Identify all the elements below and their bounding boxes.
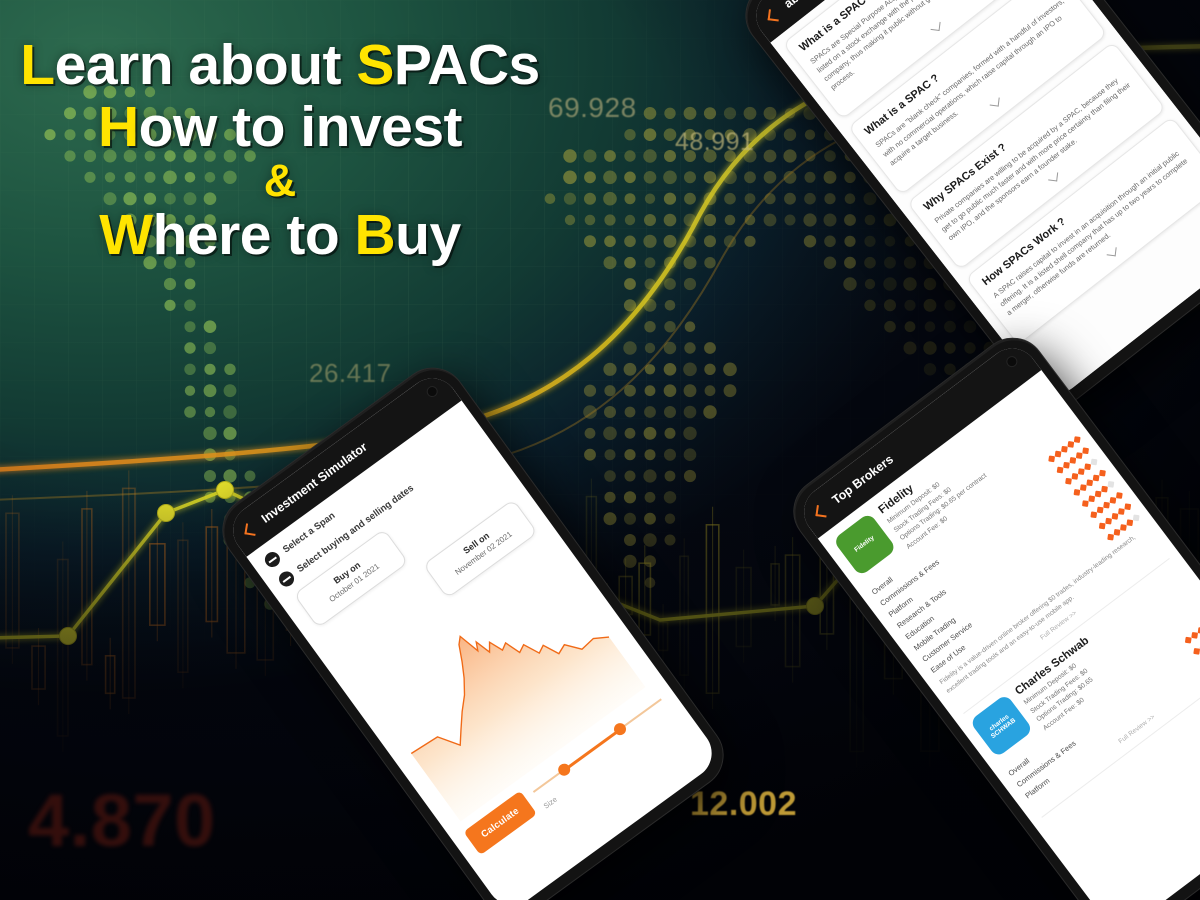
headline-line-4-text-2: uy	[395, 203, 461, 267]
chevron-down-icon[interactable]	[1107, 247, 1117, 257]
star-icon	[1090, 459, 1096, 465]
star-icon	[1098, 523, 1104, 529]
star-icon	[1116, 492, 1122, 498]
star-icon	[1048, 456, 1054, 462]
headline-line-2-text: ow to invest	[139, 95, 462, 159]
headline-line-2-accent: H	[98, 95, 139, 159]
star-icon	[1193, 648, 1199, 654]
headline-line-1-accent: L	[20, 33, 54, 97]
star-icon	[1069, 457, 1075, 463]
star-icon	[1088, 496, 1094, 502]
background-number-5: 12.002	[690, 785, 797, 824]
minus-circle-icon	[262, 549, 283, 570]
star-icon	[1067, 441, 1073, 447]
star-icon	[1061, 446, 1067, 452]
star-icon	[1126, 520, 1132, 526]
star-icon	[1099, 470, 1105, 476]
headline-line-1: Learn about SPACs	[0, 36, 560, 94]
star-icon	[1092, 475, 1098, 481]
star-icon	[1103, 502, 1109, 508]
background-number-2: 48.991	[675, 128, 754, 157]
chevron-down-icon[interactable]	[1048, 172, 1058, 182]
star-icon	[1056, 467, 1062, 473]
star-icon	[1111, 513, 1117, 519]
camera-icon	[1006, 355, 1019, 368]
star-icon	[1113, 529, 1119, 535]
star-icon	[1086, 480, 1092, 486]
star-icon	[1075, 452, 1081, 458]
star-icon	[1096, 507, 1102, 513]
star-icon	[1077, 468, 1083, 474]
star-icon	[1132, 515, 1138, 521]
star-icon	[1063, 462, 1069, 468]
headline-line-1-text: earn about	[55, 33, 357, 97]
background-number-7: 4.870	[28, 778, 216, 863]
back-arrow-icon[interactable]	[764, 6, 782, 24]
star-icon	[1065, 478, 1071, 484]
back-arrow-icon[interactable]	[241, 521, 259, 539]
star-icon	[1107, 534, 1113, 540]
star-icon	[1090, 512, 1096, 518]
star-icon	[1080, 484, 1086, 490]
star-icon	[1073, 489, 1079, 495]
star-icon	[1082, 500, 1088, 506]
star-icon	[1185, 637, 1191, 643]
background-number-3: 26.417	[309, 358, 392, 389]
star-icon	[1191, 632, 1197, 638]
headline-line-4-text: here to	[153, 203, 355, 267]
star-icon	[1118, 508, 1124, 514]
star-icon	[1101, 486, 1107, 492]
headline-line-4-accent-2: B	[354, 203, 395, 267]
star-icon	[1094, 491, 1100, 497]
star-icon	[1073, 436, 1079, 442]
star-icon	[1054, 451, 1060, 457]
chevron-down-icon[interactable]	[989, 97, 999, 107]
headline-line-2: How to invest	[0, 98, 560, 156]
headline-line-4-accent: W	[99, 203, 152, 267]
minus-circle-icon	[276, 568, 297, 589]
camera-icon	[426, 385, 439, 398]
star-icon	[1105, 518, 1111, 524]
headline-line-4: Where to Buy	[0, 206, 560, 264]
headline-line-1-accent-2: S	[356, 33, 394, 97]
headline-line-1-text-2: PACs	[394, 33, 540, 97]
star-icon	[1120, 524, 1126, 530]
star-icon	[1124, 504, 1130, 510]
chevron-down-icon[interactable]	[930, 22, 940, 32]
headline-ampersand: &	[0, 158, 560, 204]
headline: Learn about SPACs How to invest & Where …	[0, 36, 560, 264]
star-icon	[1082, 448, 1088, 454]
star-icon	[1107, 481, 1113, 487]
star-icon	[1084, 464, 1090, 470]
background-number-1: 69.928	[548, 92, 637, 124]
buy-date-button[interactable]: Buy on October 01 2021	[293, 529, 408, 629]
promo-banner: 69.928 48.991 26.417 70.11 12.002 6.4 4.…	[0, 0, 1200, 900]
star-icon	[1071, 473, 1077, 479]
star-icon	[1109, 497, 1115, 503]
back-arrow-icon[interactable]	[811, 502, 829, 520]
